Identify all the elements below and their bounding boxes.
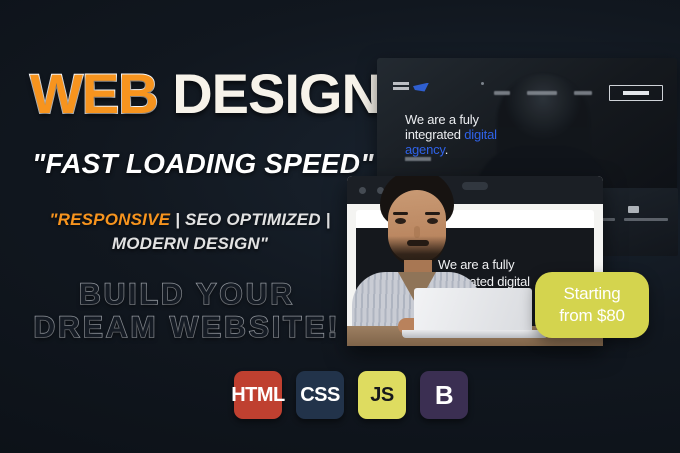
laptop — [398, 288, 558, 346]
mockup-nav-item-3[interactable] — [574, 91, 592, 95]
laptop-lid — [414, 288, 532, 332]
person-brow-left — [393, 212, 408, 215]
cta-line-1: BUILD YOUR — [22, 278, 352, 311]
side-panel-icon-2 — [628, 206, 639, 213]
mockup-logo — [393, 82, 429, 92]
mockup-hero-subtext — [405, 157, 431, 161]
mockup-hero-text: We are a fuly integrated digital agency. — [405, 112, 497, 157]
feature-seo: | SEO OPTIMIZED | — [170, 210, 330, 229]
mockup-nav-item-1[interactable] — [494, 91, 510, 95]
person-brow-right — [425, 212, 440, 215]
mockup-hero-line-3b: . — [445, 142, 448, 157]
tech-badge-bootstrap: B — [420, 371, 468, 419]
laptop-base — [402, 330, 548, 338]
mockup-nav-item-2[interactable] — [527, 91, 557, 95]
price-badge-line-1: Starting — [564, 283, 621, 305]
mockup-hero-line-3a: agency — [405, 142, 445, 157]
mockup-nav — [494, 85, 663, 101]
person-moustache — [407, 240, 429, 246]
headline-word-web: WEB — [30, 62, 158, 125]
mockup-nav-cta-button[interactable] — [609, 85, 663, 101]
price-badge-line-2: from $80 — [559, 305, 625, 327]
price-badge[interactable]: Starting from $80 — [535, 272, 649, 338]
tech-badge-row: HTML CSS JS B — [234, 371, 468, 419]
feature-modern-design: MODERN DESIGN" — [112, 234, 268, 253]
tech-badge-css: CSS — [296, 371, 344, 419]
cta-text: BUILD YOUR DREAM WEBSITE! — [22, 278, 352, 344]
mockup-hero-line-2a: integrated — [405, 127, 464, 142]
feature-list: "RESPONSIVE | SEO OPTIMIZED | MODERN DES… — [30, 208, 350, 256]
person-eye-right — [427, 218, 438, 224]
person-eye-left — [395, 218, 406, 224]
mockup-hero-line-2b: digital — [464, 127, 497, 142]
mockup-decor-dot — [481, 82, 484, 85]
mockup-logo-wordmark — [393, 82, 409, 92]
mockup-hero-line-1: We are a fuly — [405, 112, 479, 127]
page-title: WEB DESIGN — [30, 66, 381, 122]
feature-responsive: "RESPONSIVE — [49, 210, 170, 229]
website-mockup-hero: We are a fuly integrated digital agency. — [377, 58, 677, 193]
tech-badge-html: HTML — [234, 371, 282, 419]
poster-canvas: WEB DESIGN "FAST LOADING SPEED" "RESPONS… — [0, 0, 680, 453]
mockup-logo-mark-icon — [413, 83, 429, 92]
tech-badge-js: JS — [358, 371, 406, 419]
cta-line-2: DREAM WEBSITE! — [22, 311, 352, 344]
headline-word-design: DESIGN — [172, 62, 381, 125]
tagline: "FAST LOADING SPEED" — [32, 148, 374, 180]
side-panel-bar-2 — [624, 218, 668, 221]
